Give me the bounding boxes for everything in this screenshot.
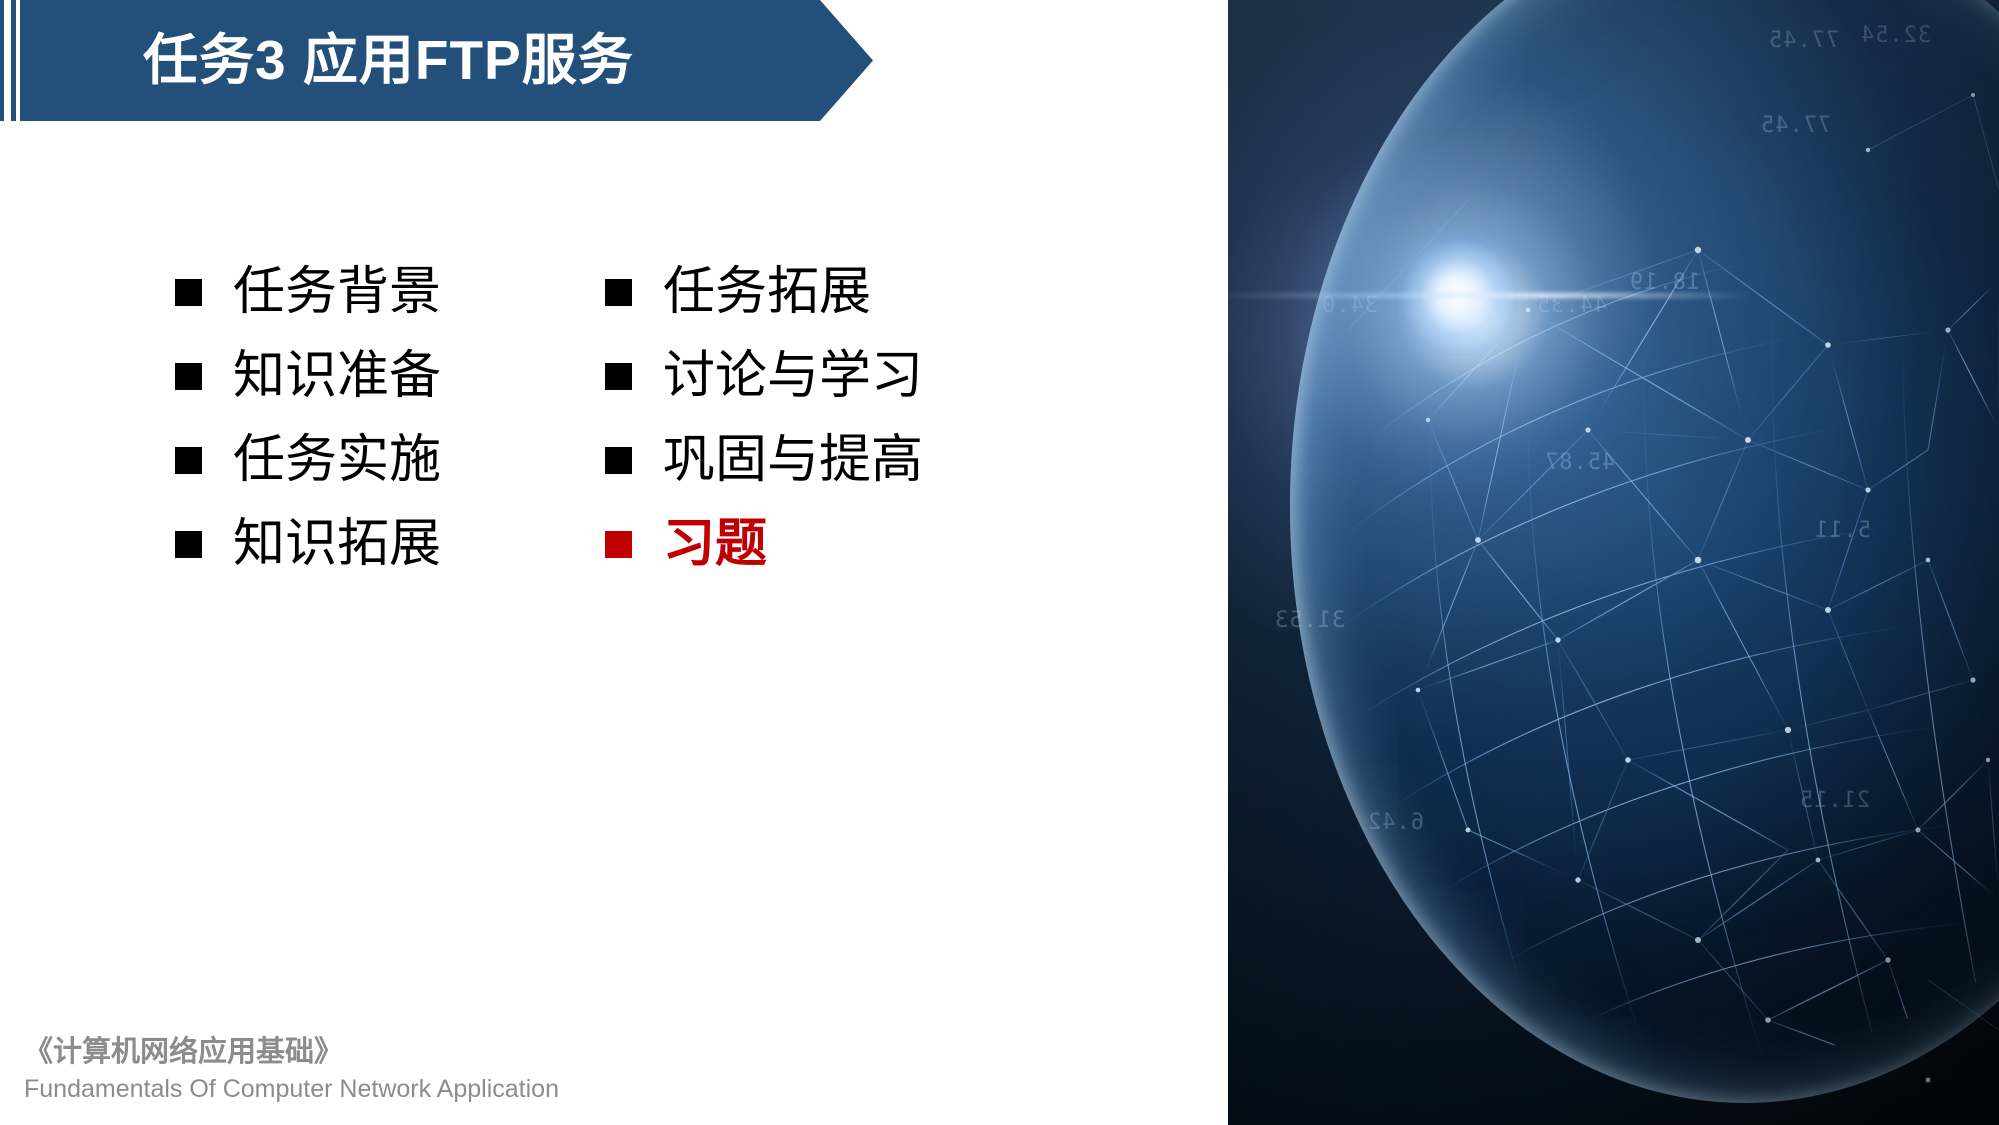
- agenda-item-label: 知识拓展: [233, 518, 441, 570]
- agenda-item-task-implementation[interactable]: 任务实施: [175, 418, 605, 502]
- square-bullet-icon: [175, 531, 202, 558]
- agenda-item-consolidation-and-improvement[interactable]: 巩固与提高: [605, 418, 985, 502]
- globe-network-image: 32.54 77.45 77.45 18.19 44.35 45.87 31.5…: [1228, 0, 1999, 1125]
- agenda-item-label: 知识准备: [233, 350, 441, 402]
- edge-stripe-outer: [0, 0, 4, 121]
- square-bullet-icon: [605, 447, 632, 474]
- footer: 《计算机网络应用基础》 Fundamentals Of Computer Net…: [24, 1034, 804, 1106]
- agenda-column-left: 任务背景 知识准备 任务实施 知识拓展: [175, 250, 605, 586]
- agenda-item-knowledge-preparation[interactable]: 知识准备: [175, 334, 605, 418]
- footer-title-cn: 《计算机网络应用基础》: [24, 1034, 804, 1070]
- square-bullet-icon: [175, 279, 202, 306]
- square-bullet-icon: [605, 531, 632, 558]
- header-banner: 任务3 应用FTP服务: [20, 0, 873, 121]
- image-vignette: [1228, 0, 1999, 1125]
- slide-root: 任务3 应用FTP服务 任务背景 知识准备 任务实施 知识拓展: [0, 0, 1999, 1125]
- agenda-item-label: 巩固与提高: [663, 434, 923, 486]
- square-bullet-icon: [605, 363, 632, 390]
- footer-title-en: Fundamentals Of Computer Network Applica…: [24, 1074, 804, 1105]
- edge-stripe-inner: [11, 0, 16, 121]
- agenda-item-label: 任务背景: [233, 266, 441, 318]
- agenda-column-right: 任务拓展 讨论与学习 巩固与提高 习题: [605, 250, 985, 586]
- agenda-list: 任务背景 知识准备 任务实施 知识拓展 任务拓展 讨论与学习: [175, 250, 985, 586]
- agenda-item-label: 任务拓展: [663, 266, 871, 318]
- page-title: 任务3 应用FTP服务: [143, 33, 634, 88]
- square-bullet-icon: [175, 363, 202, 390]
- agenda-item-label: 任务实施: [233, 434, 441, 486]
- square-bullet-icon: [605, 279, 632, 306]
- agenda-item-exercises[interactable]: 习题: [605, 502, 985, 586]
- agenda-item-task-background[interactable]: 任务背景: [175, 250, 605, 334]
- agenda-item-label: 习题: [663, 518, 767, 570]
- agenda-item-label: 讨论与学习: [663, 350, 923, 402]
- agenda-item-discussion-and-study[interactable]: 讨论与学习: [605, 334, 985, 418]
- agenda-item-knowledge-extension[interactable]: 知识拓展: [175, 502, 605, 586]
- agenda-item-task-expansion[interactable]: 任务拓展: [605, 250, 985, 334]
- square-bullet-icon: [175, 447, 202, 474]
- left-edge-stripes: [0, 0, 20, 121]
